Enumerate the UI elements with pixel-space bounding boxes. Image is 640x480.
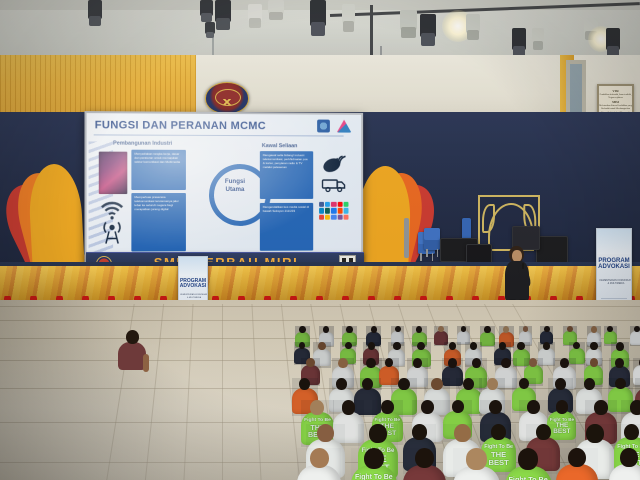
stage-spotlight-icon [342, 4, 355, 32]
student-head [544, 326, 550, 332]
stage-spotlight-icon [215, 0, 231, 30]
student-head [489, 400, 502, 414]
stage-spotlight-icon [466, 14, 480, 40]
student-head [517, 342, 524, 350]
school-crest-icon [205, 82, 249, 114]
student-head [310, 448, 329, 468]
student-head [421, 400, 434, 414]
student-head [491, 424, 506, 440]
student-shirt [630, 331, 640, 345]
audience-student [630, 326, 640, 346]
student-head [615, 378, 626, 389]
student-head [317, 424, 334, 442]
student-head [413, 358, 422, 368]
student-head [499, 342, 506, 350]
audience-student [556, 448, 598, 480]
student-head [393, 342, 400, 350]
student-head [366, 358, 375, 368]
student-head [590, 342, 597, 350]
shirt-slogan-line1: Fight To Be [351, 475, 396, 480]
stage-spotlight-icon [310, 0, 326, 36]
student-head [368, 342, 375, 350]
student-head [431, 378, 442, 390]
student-head [584, 378, 595, 390]
stage-speaker-box [536, 236, 568, 264]
student-head [448, 358, 457, 368]
student-head [385, 358, 394, 367]
student-head [518, 448, 538, 470]
student-head [369, 424, 386, 443]
student-head [306, 358, 314, 367]
student-head [568, 448, 586, 467]
student-head [345, 342, 352, 349]
student-shirt [480, 332, 494, 346]
presentation-slide: FUNGSI DAN PERANAN MCMC Pembangunan Indu… [87, 113, 362, 262]
student-head [338, 358, 348, 368]
stage-spotlight-icon [420, 14, 436, 46]
student-head [449, 342, 457, 350]
student-head [543, 342, 550, 350]
rollup-right-title: PROGRAM ADVOKASI [597, 258, 631, 271]
stage-chair [424, 228, 440, 250]
student-head [415, 448, 434, 468]
student-head [438, 326, 444, 332]
student-head [555, 378, 566, 390]
student-head [472, 358, 482, 368]
student-head [342, 400, 355, 415]
student-head [452, 400, 464, 413]
student-head [536, 424, 551, 440]
stage-spotlight-icon [205, 22, 215, 38]
student-head [529, 358, 537, 367]
stage-spotlight-icon [200, 0, 213, 22]
audience-student [118, 330, 148, 374]
student-head [395, 326, 401, 332]
student-head [346, 326, 352, 333]
chair-frame [404, 218, 409, 258]
projection-screen: FUNGSI DAN PERANAN MCMC Pembangunan Indu… [84, 111, 363, 264]
student-head [381, 400, 394, 414]
student-head [299, 378, 310, 390]
student-head [590, 358, 598, 367]
student-head [586, 424, 603, 443]
student-head [620, 448, 638, 467]
audience-student [480, 326, 494, 347]
student-audience: Fight To BeTHE BESTFight To BeTHE BESTFi… [0, 296, 640, 480]
student-head [126, 330, 139, 344]
student-head [519, 378, 529, 389]
left-wall-texture [0, 55, 196, 117]
student-head [567, 326, 573, 332]
student-head [527, 400, 540, 414]
stage-spotlight-icon [512, 28, 526, 58]
rollup-right-subtitle: KEMENTERIAN KOMUNIKASI & MULTIMEDIA [597, 279, 632, 285]
student-head [336, 378, 347, 390]
stage-spotlight-icon [532, 28, 544, 50]
audience-student [297, 448, 341, 480]
audience-student [453, 448, 499, 480]
student-arm [143, 354, 149, 372]
audience-student: Fight To BeTHE BEST [351, 448, 396, 480]
stage-spotlight-icon [88, 0, 102, 26]
stage-floor-monitor [466, 244, 492, 264]
plaque-visi-text: Pendidikan berkualiti, Insan terdidik, N… [599, 93, 632, 99]
student-head [591, 326, 597, 333]
shirt-slogan-line1: Fight To Be [505, 476, 552, 480]
fan-decoration-left [8, 150, 86, 268]
assembly-hall-photo: VISI Pendidikan berkualiti, Insan terdid… [0, 0, 640, 480]
student-head [487, 378, 498, 390]
student-head [299, 326, 305, 333]
audience-student [403, 448, 446, 480]
student-head [318, 342, 326, 350]
audience-student: Fight To BeTHE BEST [505, 448, 552, 480]
student-head [416, 326, 422, 333]
student-head [466, 448, 486, 470]
stage-spotlight-icon [606, 28, 620, 58]
student-head [398, 378, 410, 390]
rollup-left-title: PROGRAM ADVOKASI [179, 279, 207, 290]
student-head [630, 400, 640, 415]
student-head [615, 358, 624, 368]
student-head [454, 424, 471, 442]
student-shirt [118, 342, 146, 370]
stage-spotlight-icon [268, 0, 284, 20]
stage-spotlight-icon [400, 10, 417, 38]
student-head [501, 358, 511, 368]
student-head [594, 400, 608, 415]
student-head [371, 326, 377, 333]
student-head [463, 378, 474, 390]
student-head [470, 342, 477, 350]
student-head [412, 424, 427, 440]
audience-student [609, 448, 640, 480]
stage-spotlight-icon [248, 4, 262, 28]
student-head [484, 326, 490, 333]
student-head [364, 448, 384, 469]
student-head [616, 342, 624, 351]
student-head [556, 400, 569, 414]
